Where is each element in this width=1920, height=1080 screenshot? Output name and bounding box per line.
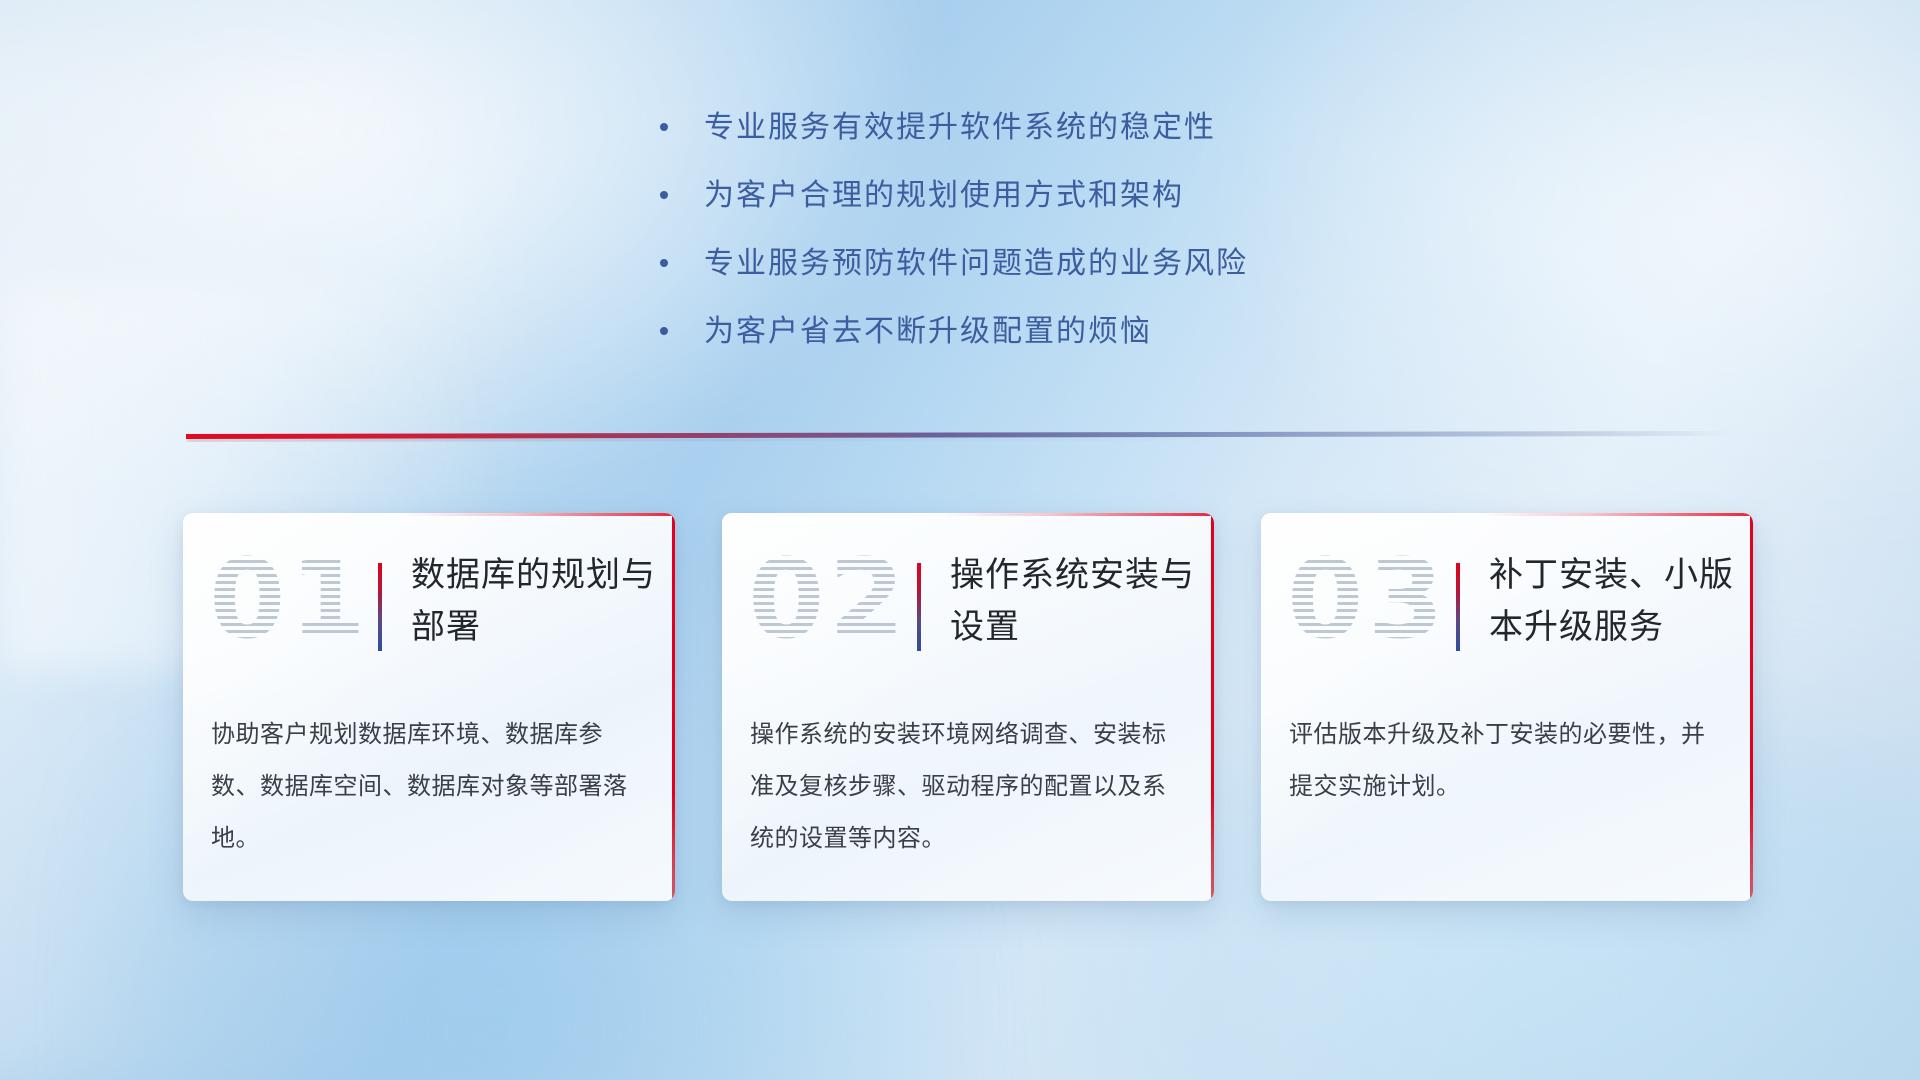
card-header: 02 操作系统安装与设置 xyxy=(722,545,1214,670)
section-divider xyxy=(186,428,1736,442)
card-accent-top-edge xyxy=(943,513,1214,516)
service-card-list: 01 数据库的规划与部署 协助客户规划数据库环境、数据库参数、数据库空间、数据库… xyxy=(183,513,1753,901)
service-card-03[interactable]: 03 补丁安装、小版本升级服务 评估版本升级及补丁安装的必要性，并提交实施计划。 xyxy=(1261,513,1753,901)
card-accent-top-edge xyxy=(404,513,675,516)
card-number-watermark: 01 xyxy=(209,539,370,659)
card-title-divider-bar xyxy=(1456,563,1460,651)
card-title-divider-bar xyxy=(378,563,382,651)
bullet-dot-icon xyxy=(660,327,668,335)
card-number-watermark: 02 xyxy=(748,539,909,659)
bullet-dot-icon xyxy=(660,259,668,267)
bullet-text: 为客户省去不断升级配置的烦恼 xyxy=(704,312,1152,352)
list-item: 为客户合理的规划使用方式和架构 xyxy=(660,176,1560,220)
card-body-text: 评估版本升级及补丁安装的必要性，并提交实施计划。 xyxy=(1289,709,1725,813)
card-body-text: 协助客户规划数据库环境、数据库参数、数据库空间、数据库对象等部署落地。 xyxy=(211,709,647,865)
card-title: 补丁安装、小版本升级服务 xyxy=(1489,549,1739,653)
bullet-text: 专业服务预防软件问题造成的业务风险 xyxy=(704,244,1248,284)
benefits-bullet-list: 专业服务有效提升软件系统的稳定性 为客户合理的规划使用方式和架构 专业服务预防软… xyxy=(660,108,1560,380)
card-header: 03 补丁安装、小版本升级服务 xyxy=(1261,545,1753,670)
bullet-dot-icon xyxy=(660,191,668,199)
bullet-dot-icon xyxy=(660,123,668,131)
card-accent-top-edge xyxy=(1482,513,1753,516)
list-item: 专业服务有效提升软件系统的稳定性 xyxy=(660,108,1560,152)
bullet-text: 专业服务有效提升软件系统的稳定性 xyxy=(704,108,1216,148)
divider-line xyxy=(186,431,1736,439)
service-card-02[interactable]: 02 操作系统安装与设置 操作系统的安装环境网络调查、安装标准及复核步骤、驱动程… xyxy=(722,513,1214,901)
bullet-text: 为客户合理的规划使用方式和架构 xyxy=(704,176,1184,216)
list-item: 为客户省去不断升级配置的烦恼 xyxy=(660,312,1560,356)
card-title-divider-bar xyxy=(917,563,921,651)
list-item: 专业服务预防软件问题造成的业务风险 xyxy=(660,244,1560,288)
card-number-watermark: 03 xyxy=(1287,539,1448,659)
service-card-01[interactable]: 01 数据库的规划与部署 协助客户规划数据库环境、数据库参数、数据库空间、数据库… xyxy=(183,513,675,901)
card-header: 01 数据库的规划与部署 xyxy=(183,545,675,670)
card-title: 操作系统安装与设置 xyxy=(950,549,1200,653)
card-body-text: 操作系统的安装环境网络调查、安装标准及复核步骤、驱动程序的配置以及系统的设置等内… xyxy=(750,709,1186,865)
slide-stage: 专业服务有效提升软件系统的稳定性 为客户合理的规划使用方式和架构 专业服务预防软… xyxy=(0,0,1920,1080)
card-title: 数据库的规划与部署 xyxy=(411,549,661,653)
